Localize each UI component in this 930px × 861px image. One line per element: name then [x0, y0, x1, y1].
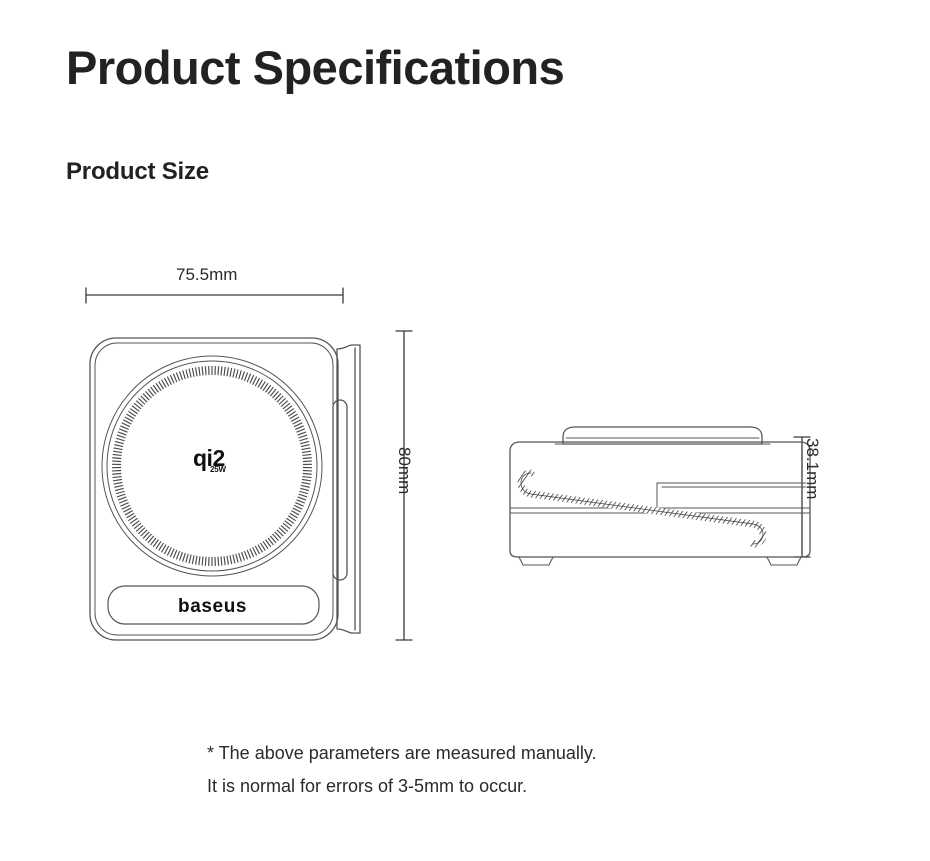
- side-view-feet: [519, 557, 801, 565]
- dimension-label-height: 80mm: [394, 447, 414, 494]
- front-view-stand: [333, 345, 360, 633]
- product-size-diagram: [0, 0, 930, 861]
- side-view: [510, 427, 810, 565]
- dimension-label-width: 75.5mm: [176, 265, 237, 285]
- brand-wordmark: baseus: [178, 596, 247, 618]
- dimension-label-depth: 38.1mm: [802, 438, 822, 499]
- qi2-power-text: 25W: [210, 466, 226, 474]
- dimension-line-width: [86, 288, 343, 303]
- front-view: [90, 338, 360, 640]
- footnote: * The above parameters are measured manu…: [207, 737, 597, 803]
- qi2-certification-logo: qi2 25W: [193, 447, 245, 479]
- footnote-line-1: * The above parameters are measured manu…: [207, 737, 597, 770]
- footnote-line-2: It is normal for errors of 3-5mm to occu…: [207, 770, 597, 803]
